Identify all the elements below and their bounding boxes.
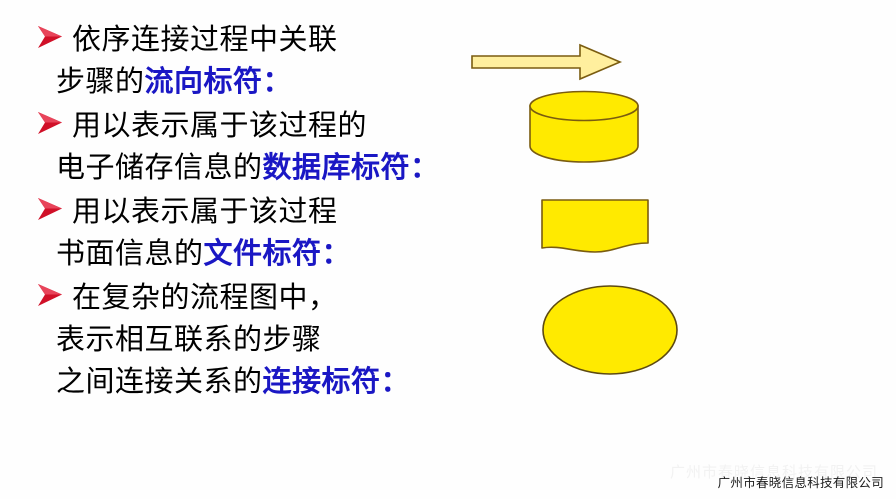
bullet-line: 在复杂的流程图中， xyxy=(34,276,504,318)
bullet-item-document: 用以表示属于该过程 书面信息的文件标符： xyxy=(34,190,504,274)
bullet-text-suffix: ： xyxy=(381,364,411,398)
bullet-line: 步骤的流向标符： xyxy=(34,60,504,102)
slide-canvas: 依序连接过程中关联 步骤的流向标符： 用以表示属于该过程的 电子储存信息的数据库… xyxy=(0,0,896,499)
bullet-text: 在复杂的流程图中， xyxy=(72,280,338,314)
bullet-text-prefix: 之间连接关系的 xyxy=(56,364,263,398)
bullet-keyword: 文件标符 xyxy=(204,236,322,270)
bullet-text-prefix: 书面信息的 xyxy=(56,236,204,270)
bullet-text-prefix: 电子储存信息的 xyxy=(56,150,263,184)
bullet-list: 依序连接过程中关联 步骤的流向标符： 用以表示属于该过程的 电子储存信息的数据库… xyxy=(34,18,504,404)
bullet-text-suffix: ： xyxy=(263,64,293,98)
bullet-line: 电子储存信息的数据库标符： xyxy=(34,146,504,188)
bullet-item-database: 用以表示属于该过程的 电子储存信息的数据库标符： xyxy=(34,104,504,188)
database-cylinder-shape xyxy=(525,90,643,172)
bullet-text: 用以表示属于该过程的 xyxy=(72,108,367,142)
bullet-line: 依序连接过程中关联 xyxy=(34,18,504,60)
arrowhead-bullet-icon xyxy=(36,282,70,312)
bullet-line: 之间连接关系的连接标符： xyxy=(34,360,504,402)
bullet-text: 表示相互联系的步骤 xyxy=(56,322,322,356)
bullet-text: 用以表示属于该过程 xyxy=(72,194,338,228)
bullet-item-flow-arrow: 依序连接过程中关联 步骤的流向标符： xyxy=(34,18,504,102)
bullet-keyword: 数据库标符 xyxy=(263,150,411,184)
connector-ellipse-shape xyxy=(538,283,684,385)
flow-arrow-shape xyxy=(468,42,624,86)
bullet-line: 表示相互联系的步骤 xyxy=(34,318,504,360)
bullet-item-connector: 在复杂的流程图中， 表示相互联系的步骤 之间连接关系的连接标符： xyxy=(34,276,504,402)
document-shape xyxy=(538,196,653,264)
bullet-text-suffix: ： xyxy=(410,150,440,184)
bullet-line: 书面信息的文件标符： xyxy=(34,232,504,274)
arrowhead-bullet-icon xyxy=(36,196,70,226)
arrowhead-bullet-icon xyxy=(36,24,70,54)
footer-company-name: 广州市春晓信息科技有限公司 xyxy=(718,472,884,491)
bullet-keyword: 连接标符 xyxy=(263,364,381,398)
arrowhead-bullet-icon xyxy=(36,110,70,140)
bullet-line: 用以表示属于该过程 xyxy=(34,190,504,232)
bullet-text-prefix: 步骤的 xyxy=(56,64,145,98)
bullet-keyword: 流向标符 xyxy=(145,64,263,98)
bullet-text-suffix: ： xyxy=(322,236,352,270)
bullet-line: 用以表示属于该过程的 xyxy=(34,104,504,146)
bullet-text: 依序连接过程中关联 xyxy=(72,22,338,56)
